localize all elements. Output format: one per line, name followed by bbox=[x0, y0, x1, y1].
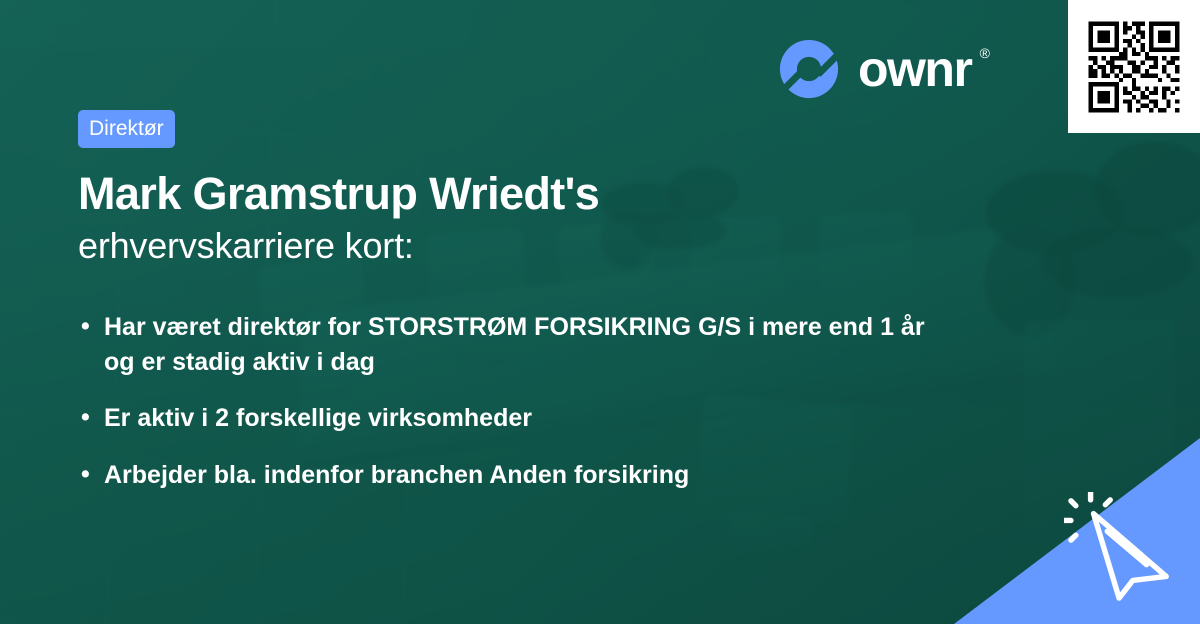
career-facts-list: Har været direktør for STORSTRØM FORSIKR… bbox=[80, 310, 950, 514]
page-title: Mark Gramstrup Wriedt's bbox=[78, 169, 960, 219]
list-item: Er aktiv i 2 forskellige virksomheder bbox=[80, 401, 950, 436]
qr-code-panel[interactable] bbox=[1068, 0, 1200, 133]
role-badge: Direktør bbox=[78, 110, 175, 148]
ownr-wordmark-text: ownr bbox=[858, 41, 971, 97]
qr-code[interactable] bbox=[1080, 13, 1188, 121]
registered-trademark-symbol: ® bbox=[980, 46, 989, 60]
list-item: Arbejder bla. indenfor branchen Anden fo… bbox=[80, 458, 950, 493]
list-item: Har været direktør for STORSTRØM FORSIKR… bbox=[80, 310, 950, 379]
ownr-logo[interactable]: ownr® bbox=[778, 38, 971, 100]
career-card: ownr® bbox=[0, 0, 1200, 624]
ownr-circle-swoosh-icon bbox=[778, 38, 840, 100]
headline-block: Direktør Mark Gramstrup Wriedt's erhverv… bbox=[78, 110, 960, 267]
page-subtitle: erhvervskarriere kort: bbox=[78, 225, 960, 266]
ownr-wordmark: ownr® bbox=[858, 44, 971, 94]
